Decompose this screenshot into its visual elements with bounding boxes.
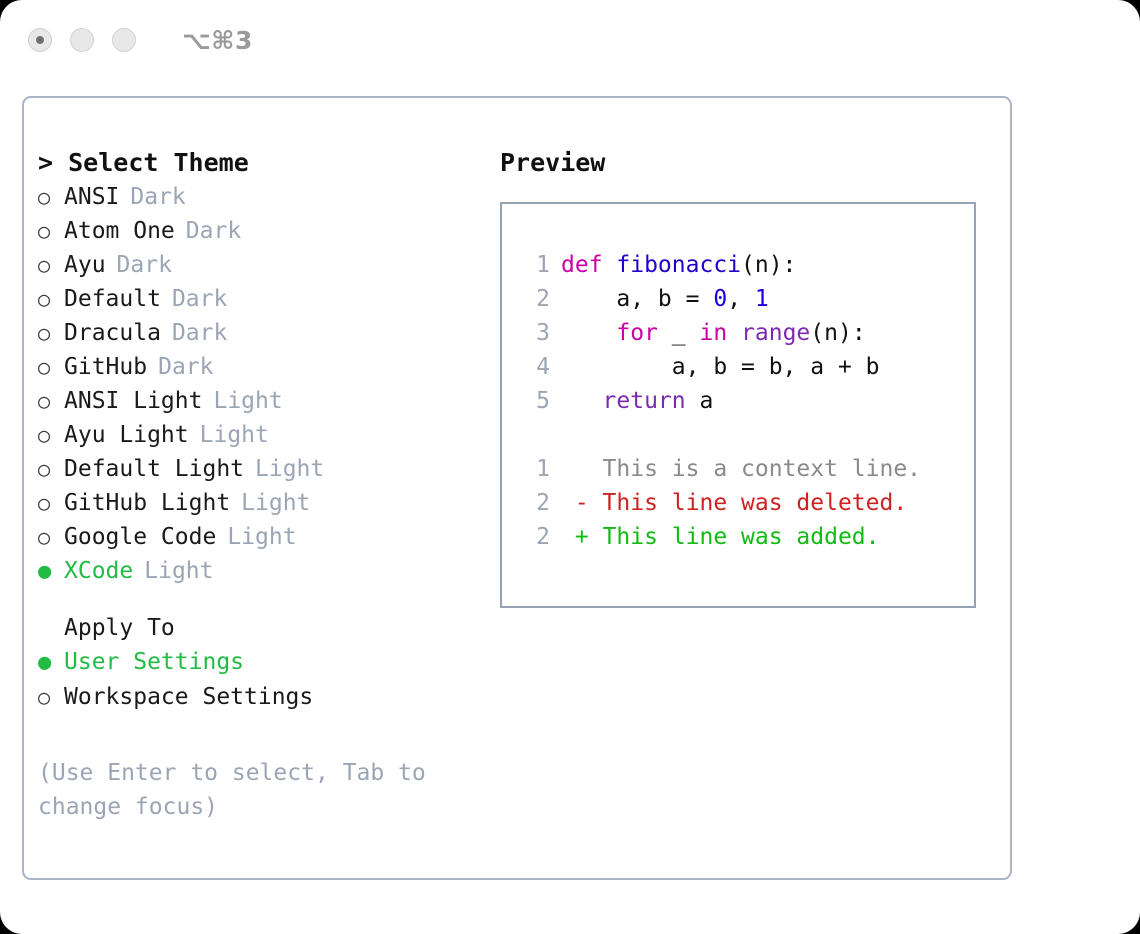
code-sample: 1def fibonacci(n):2 a, b = 0, 13 for _ i…: [520, 248, 974, 418]
theme-option-kind: Light: [255, 452, 324, 486]
token-kw: for: [616, 320, 658, 346]
line-content: - This line was deleted.: [561, 486, 907, 520]
apply-to-option-workspace-settings[interactable]: ○Workspace Settings: [38, 680, 498, 714]
line-content: for _ in range(n):: [561, 316, 866, 350]
theme-option-label: Ayu: [64, 248, 106, 282]
token-txt: (n):: [810, 320, 865, 346]
token-kw: in: [699, 320, 727, 346]
theme-option-default-light[interactable]: ○Default LightLight: [38, 452, 498, 486]
select-theme-heading-label: Select Theme: [68, 148, 249, 177]
code-diff-separator: [520, 418, 974, 452]
radio-unselected-icon: ○: [38, 350, 64, 384]
line-number: 1: [520, 452, 550, 486]
theme-option-label: ANSI Light: [64, 384, 202, 418]
panel-columns: > Select Theme ○ANSIDark○Atom OneDark○Ay…: [24, 98, 1010, 878]
line-content: This is a context line.: [561, 452, 921, 486]
code-line: 1def fibonacci(n):: [520, 248, 974, 282]
token-txt: [561, 320, 616, 346]
page-dot-active[interactable]: [28, 28, 52, 52]
theme-option-label: Dracula: [64, 316, 161, 350]
theme-option-ayu[interactable]: ○AyuDark: [38, 248, 498, 282]
diff-line: 2 + This line was added.: [520, 520, 974, 554]
theme-option-github-light[interactable]: ○GitHub LightLight: [38, 486, 498, 520]
token-add: + This line was added.: [561, 524, 880, 550]
line-content: + This line was added.: [561, 520, 880, 554]
radio-selected-icon: ●: [38, 555, 64, 589]
title-bar: ⌥⌘3: [0, 0, 1140, 80]
theme-option-label: Ayu Light: [64, 418, 189, 452]
code-preview-box: 1def fibonacci(n):2 a, b = 0, 13 for _ i…: [500, 202, 976, 608]
theme-option-label: Default: [64, 282, 161, 316]
theme-option-kind: Light: [213, 384, 282, 418]
diff-sample: 1 This is a context line.2 - This line w…: [520, 452, 974, 554]
app-window: ⌥⌘3 > Select Theme ○ANSIDark○Atom OneDar…: [0, 0, 1140, 934]
apply-to-blank-marker-icon: ○: [38, 611, 64, 645]
token-txt: _: [658, 320, 700, 346]
token-kw: def: [561, 252, 616, 278]
radio-unselected-icon: ○: [38, 180, 64, 214]
radio-unselected-icon: ○: [38, 316, 64, 350]
theme-option-label: ANSI: [64, 180, 119, 214]
theme-option-atom-one[interactable]: ○Atom OneDark: [38, 214, 498, 248]
token-call: return: [603, 388, 686, 414]
radio-unselected-icon: ○: [38, 214, 64, 248]
spacer-after-themes: [38, 589, 498, 611]
theme-option-default[interactable]: ○DefaultDark: [38, 282, 498, 316]
token-txt: (n):: [741, 252, 796, 278]
theme-option-github[interactable]: ○GitHubDark: [38, 350, 498, 384]
theme-option-kind: Dark: [186, 214, 241, 248]
theme-option-kind: Dark: [117, 248, 172, 282]
theme-option-label: XCode: [64, 554, 133, 588]
token-txt: a, b = b, a + b: [561, 354, 880, 380]
line-number: 3: [520, 316, 550, 350]
theme-option-xcode[interactable]: ●XCodeLight: [38, 554, 498, 589]
theme-option-google-code[interactable]: ○Google CodeLight: [38, 520, 498, 554]
line-number: 4: [520, 350, 550, 384]
page-dot-inner-icon: [36, 36, 44, 44]
theme-option-dracula[interactable]: ○DraculaDark: [38, 316, 498, 350]
token-num: 1: [755, 286, 769, 312]
radio-unselected-icon: ○: [38, 680, 64, 714]
theme-selector-column: > Select Theme ○ANSIDark○Atom OneDark○Ay…: [38, 146, 498, 824]
line-number: 5: [520, 384, 550, 418]
diff-line: 2 - This line was deleted.: [520, 486, 974, 520]
theme-option-ansi[interactable]: ○ANSIDark: [38, 180, 498, 214]
radio-unselected-icon: ○: [38, 418, 64, 452]
token-del: - This line was deleted.: [561, 490, 907, 516]
theme-option-kind: Light: [227, 520, 296, 554]
token-ctx: This is a context line.: [561, 456, 921, 482]
theme-list: ○ANSIDark○Atom OneDark○AyuDark○DefaultDa…: [38, 180, 498, 589]
line-number: 2: [520, 486, 550, 520]
theme-option-kind: Dark: [172, 282, 227, 316]
radio-unselected-icon: ○: [38, 486, 64, 520]
spacer-before-hint: [38, 714, 498, 756]
window-page-dots: [28, 28, 136, 52]
token-txt: a, b =: [561, 286, 713, 312]
theme-option-label: GitHub Light: [64, 486, 230, 520]
token-txt: [561, 388, 603, 414]
preview-heading: Preview: [500, 146, 1000, 180]
preview-column: Preview 1def fibonacci(n):2 a, b = 0, 13…: [500, 146, 1000, 608]
keyboard-shortcut-label: ⌥⌘3: [182, 26, 253, 55]
radio-unselected-icon: ○: [38, 248, 64, 282]
code-line: 5 return a: [520, 384, 974, 418]
apply-to-option-label: User Settings: [64, 645, 244, 679]
theme-option-kind: Light: [144, 554, 213, 588]
radio-unselected-icon: ○: [38, 520, 64, 554]
theme-option-kind: Light: [241, 486, 310, 520]
code-line: 2 a, b = 0, 1: [520, 282, 974, 316]
line-content: return a: [561, 384, 713, 418]
radio-unselected-icon: ○: [38, 384, 64, 418]
token-txt: [727, 320, 741, 346]
line-content: def fibonacci(n):: [561, 248, 796, 282]
radio-selected-icon: ●: [38, 646, 64, 680]
apply-to-option-label: Workspace Settings: [64, 680, 313, 714]
theme-option-kind: Dark: [130, 180, 185, 214]
line-number: 2: [520, 520, 550, 554]
theme-option-label: Default Light: [64, 452, 244, 486]
line-number: 1: [520, 248, 550, 282]
line-content: a, b = b, a + b: [561, 350, 880, 384]
page-dot-2[interactable]: [70, 28, 94, 52]
select-theme-heading: > Select Theme: [38, 146, 498, 180]
keyboard-hint-text: (Use Enter to select, Tab to change focu…: [38, 756, 458, 824]
apply-to-option-user-settings[interactable]: ●User Settings: [38, 645, 498, 680]
theme-option-kind: Dark: [172, 316, 227, 350]
token-call: range: [741, 320, 810, 346]
code-line: 4 a, b = b, a + b: [520, 350, 974, 384]
radio-unselected-icon: ○: [38, 282, 64, 316]
token-txt: a: [686, 388, 714, 414]
diff-line: 1 This is a context line.: [520, 452, 974, 486]
theme-option-label: GitHub: [64, 350, 147, 384]
apply-to-list: ●User Settings○Workspace Settings: [38, 645, 498, 714]
code-line: 3 for _ in range(n):: [520, 316, 974, 350]
line-number: 2: [520, 282, 550, 316]
main-panel: > Select Theme ○ANSIDark○Atom OneDark○Ay…: [22, 96, 1012, 880]
line-content: a, b = 0, 1: [561, 282, 769, 316]
token-fn: fibonacci: [616, 252, 741, 278]
theme-option-label: Atom One: [64, 214, 175, 248]
token-num: 0: [713, 286, 727, 312]
apply-to-label: Apply To: [64, 611, 175, 645]
page-dot-3[interactable]: [112, 28, 136, 52]
theme-option-kind: Dark: [158, 350, 213, 384]
theme-option-ansi-light[interactable]: ○ANSI LightLight: [38, 384, 498, 418]
theme-option-ayu-light[interactable]: ○Ayu LightLight: [38, 418, 498, 452]
prompt-caret-icon: >: [38, 148, 53, 177]
radio-unselected-icon: ○: [38, 452, 64, 486]
token-txt: ,: [727, 286, 755, 312]
apply-to-label-row: ○ Apply To: [38, 611, 498, 645]
theme-option-kind: Light: [200, 418, 269, 452]
theme-option-label: Google Code: [64, 520, 216, 554]
